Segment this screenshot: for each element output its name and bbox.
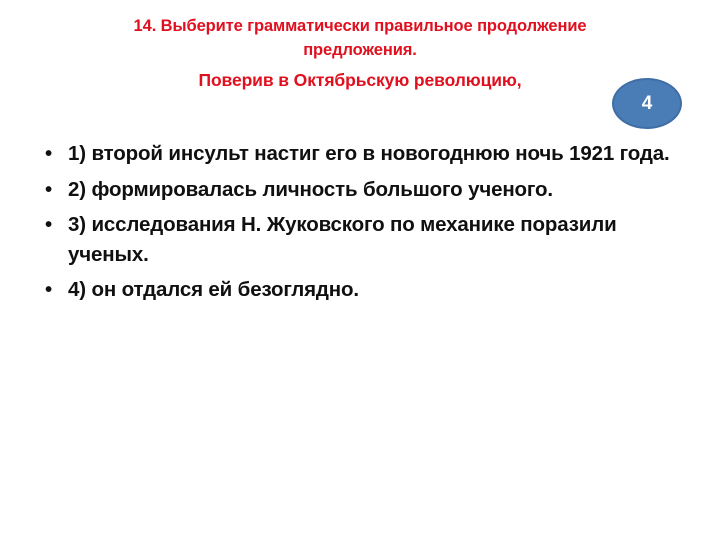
answer-number-badge-value: 4 — [642, 94, 653, 113]
bullet-icon: • — [45, 175, 57, 205]
answer-option-text: 2) формировалась личность большого учено… — [68, 178, 553, 201]
question-header: 14. Выберите грамматически правильное пр… — [0, 14, 720, 94]
question-header-line-2: предложения. — [0, 38, 720, 62]
answer-option-text: 4) он отдался ей безоглядно. — [68, 278, 359, 301]
list-item[interactable]: • 4) он отдался ей безоглядно. — [0, 275, 720, 305]
list-item[interactable]: • 3) исследования Н. Жуковского по механ… — [0, 210, 720, 269]
list-item[interactable]: • 2) формировалась личность большого уче… — [0, 175, 720, 205]
answer-options-list: • 1) второй инсульт настиг его в новогод… — [0, 139, 720, 311]
answer-number-badge: 4 — [612, 78, 682, 129]
bullet-icon: • — [45, 139, 57, 169]
bullet-icon: • — [45, 210, 57, 240]
question-header-line-1: 14. Выберите грамматически правильное пр… — [0, 14, 720, 38]
answer-option-text: 1) второй инсульт настиг его в новогодню… — [68, 142, 670, 165]
bullet-icon: • — [45, 275, 57, 305]
question-header-line-3: Поверив в Октябрьскую революцию, — [0, 63, 720, 94]
slide-canvas: 14. Выберите грамматически правильное пр… — [0, 0, 720, 540]
list-item[interactable]: • 1) второй инсульт настиг его в новогод… — [0, 139, 720, 169]
answer-option-text: 3) исследования Н. Жуковского по механик… — [68, 213, 617, 266]
